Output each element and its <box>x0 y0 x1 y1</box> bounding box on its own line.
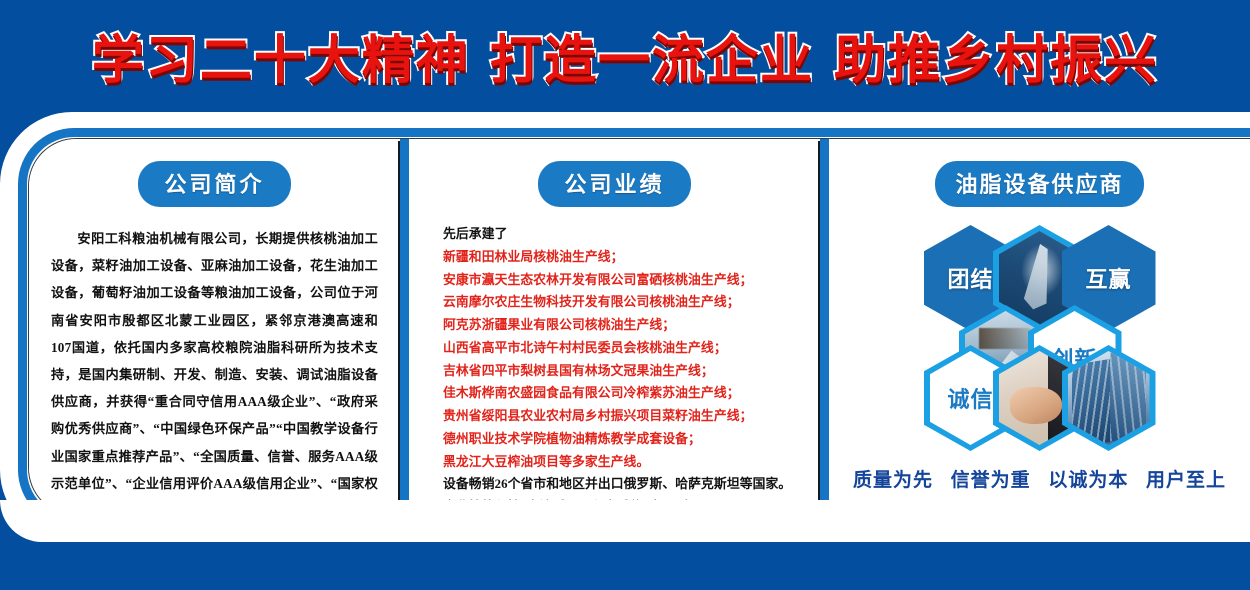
project-item: 阿克苏浙疆果业有限公司核桃油生产线； <box>443 314 800 337</box>
performance-list: 先后承建了 新疆和田林业局核桃油生产线； 安康市瀛天生态农林开发有限公司富硒核桃… <box>425 223 804 515</box>
project-item: 吉林省四平市梨树县国有林场文冠果油生产线； <box>443 360 800 383</box>
project-item: 德州职业技术学院植物油精炼教学成套设备； <box>443 428 800 451</box>
slogan-part: 以诚为本 <box>1048 469 1128 491</box>
content-plate: 公司简介 安阳工科粮油机械有限公司，长期提供核桃油加工设备，菜籽油加工设备、亚麻… <box>29 139 1250 515</box>
project-item: 云南摩尔农庄生物科技开发有限公司核桃油生产线； <box>443 291 800 314</box>
hex-label: 诚信 <box>947 382 993 414</box>
banner-title: 学习二十大精神 打造一流企业 助推乡村振兴 <box>92 18 1158 93</box>
panel-divider-1 <box>400 139 409 515</box>
hex-label: 互赢 <box>1085 262 1131 294</box>
panel-divider-2 <box>820 139 829 515</box>
panel-supplier: 油脂设备供应商 团结 互赢 <box>829 139 1250 515</box>
display-board: 学习二十大精神 打造一流企业 助推乡村振兴 公司简介 安阳工科粮油机械有限公司，… <box>0 0 1250 590</box>
project-item: 安康市瀛天生态农林开发有限公司富硒核桃油生产线； <box>443 269 800 292</box>
panel-heading-intro: 公司简介 <box>138 161 290 207</box>
project-item: 黑龙江大豆榨油项目等多家生产线。 <box>443 451 800 474</box>
slogan-part: 用户至上 <box>1146 469 1226 491</box>
bottom-white-sweep <box>0 500 1250 542</box>
panel-heading-supplier: 油脂设备供应商 <box>935 161 1143 207</box>
panel-heading-performance: 公司业绩 <box>538 161 690 207</box>
hex-label: 团结 <box>947 262 993 294</box>
panel-company-intro: 公司简介 安阳工科粮油机械有限公司，长期提供核桃油加工设备，菜籽油加工设备、亚麻… <box>29 139 400 515</box>
banner: 学习二十大精神 打造一流企业 助推乡村振兴 <box>0 0 1250 110</box>
hexagon-cluster: 团结 互赢 创新 <box>870 221 1210 457</box>
company-intro-text: 安阳工科粮油机械有限公司，长期提供核桃油加工设备，菜籽油加工设备、亚麻油加工设备… <box>45 225 384 515</box>
skyscraper-icon <box>1068 351 1150 445</box>
project-item: 佳木斯桦南农盛园食品有限公司冷榨紫苏油生产线； <box>443 382 800 405</box>
slogan-part: 信誉为重 <box>951 469 1031 491</box>
supplier-slogan: 质量为先 信誉为重 以诚为本 用户至上 <box>845 465 1234 492</box>
project-item: 贵州省绥阳县农业农村局乡村振兴项目菜籽油生产线； <box>443 405 800 428</box>
slogan-part: 质量为先 <box>853 469 933 491</box>
performance-footer: 设备畅销26个省市和地区并出口俄罗斯、哈萨克斯坦等国家。 <box>443 473 800 496</box>
performance-lead: 先后承建了 <box>443 223 800 246</box>
project-item: 山西省高平市北诗午村村民委员会核桃油生产线； <box>443 337 800 360</box>
project-item: 新疆和田林业局核桃油生产线； <box>443 246 800 269</box>
panel-company-performance: 公司业绩 先后承建了 新疆和田林业局核桃油生产线； 安康市瀛天生态农林开发有限公… <box>409 139 820 515</box>
